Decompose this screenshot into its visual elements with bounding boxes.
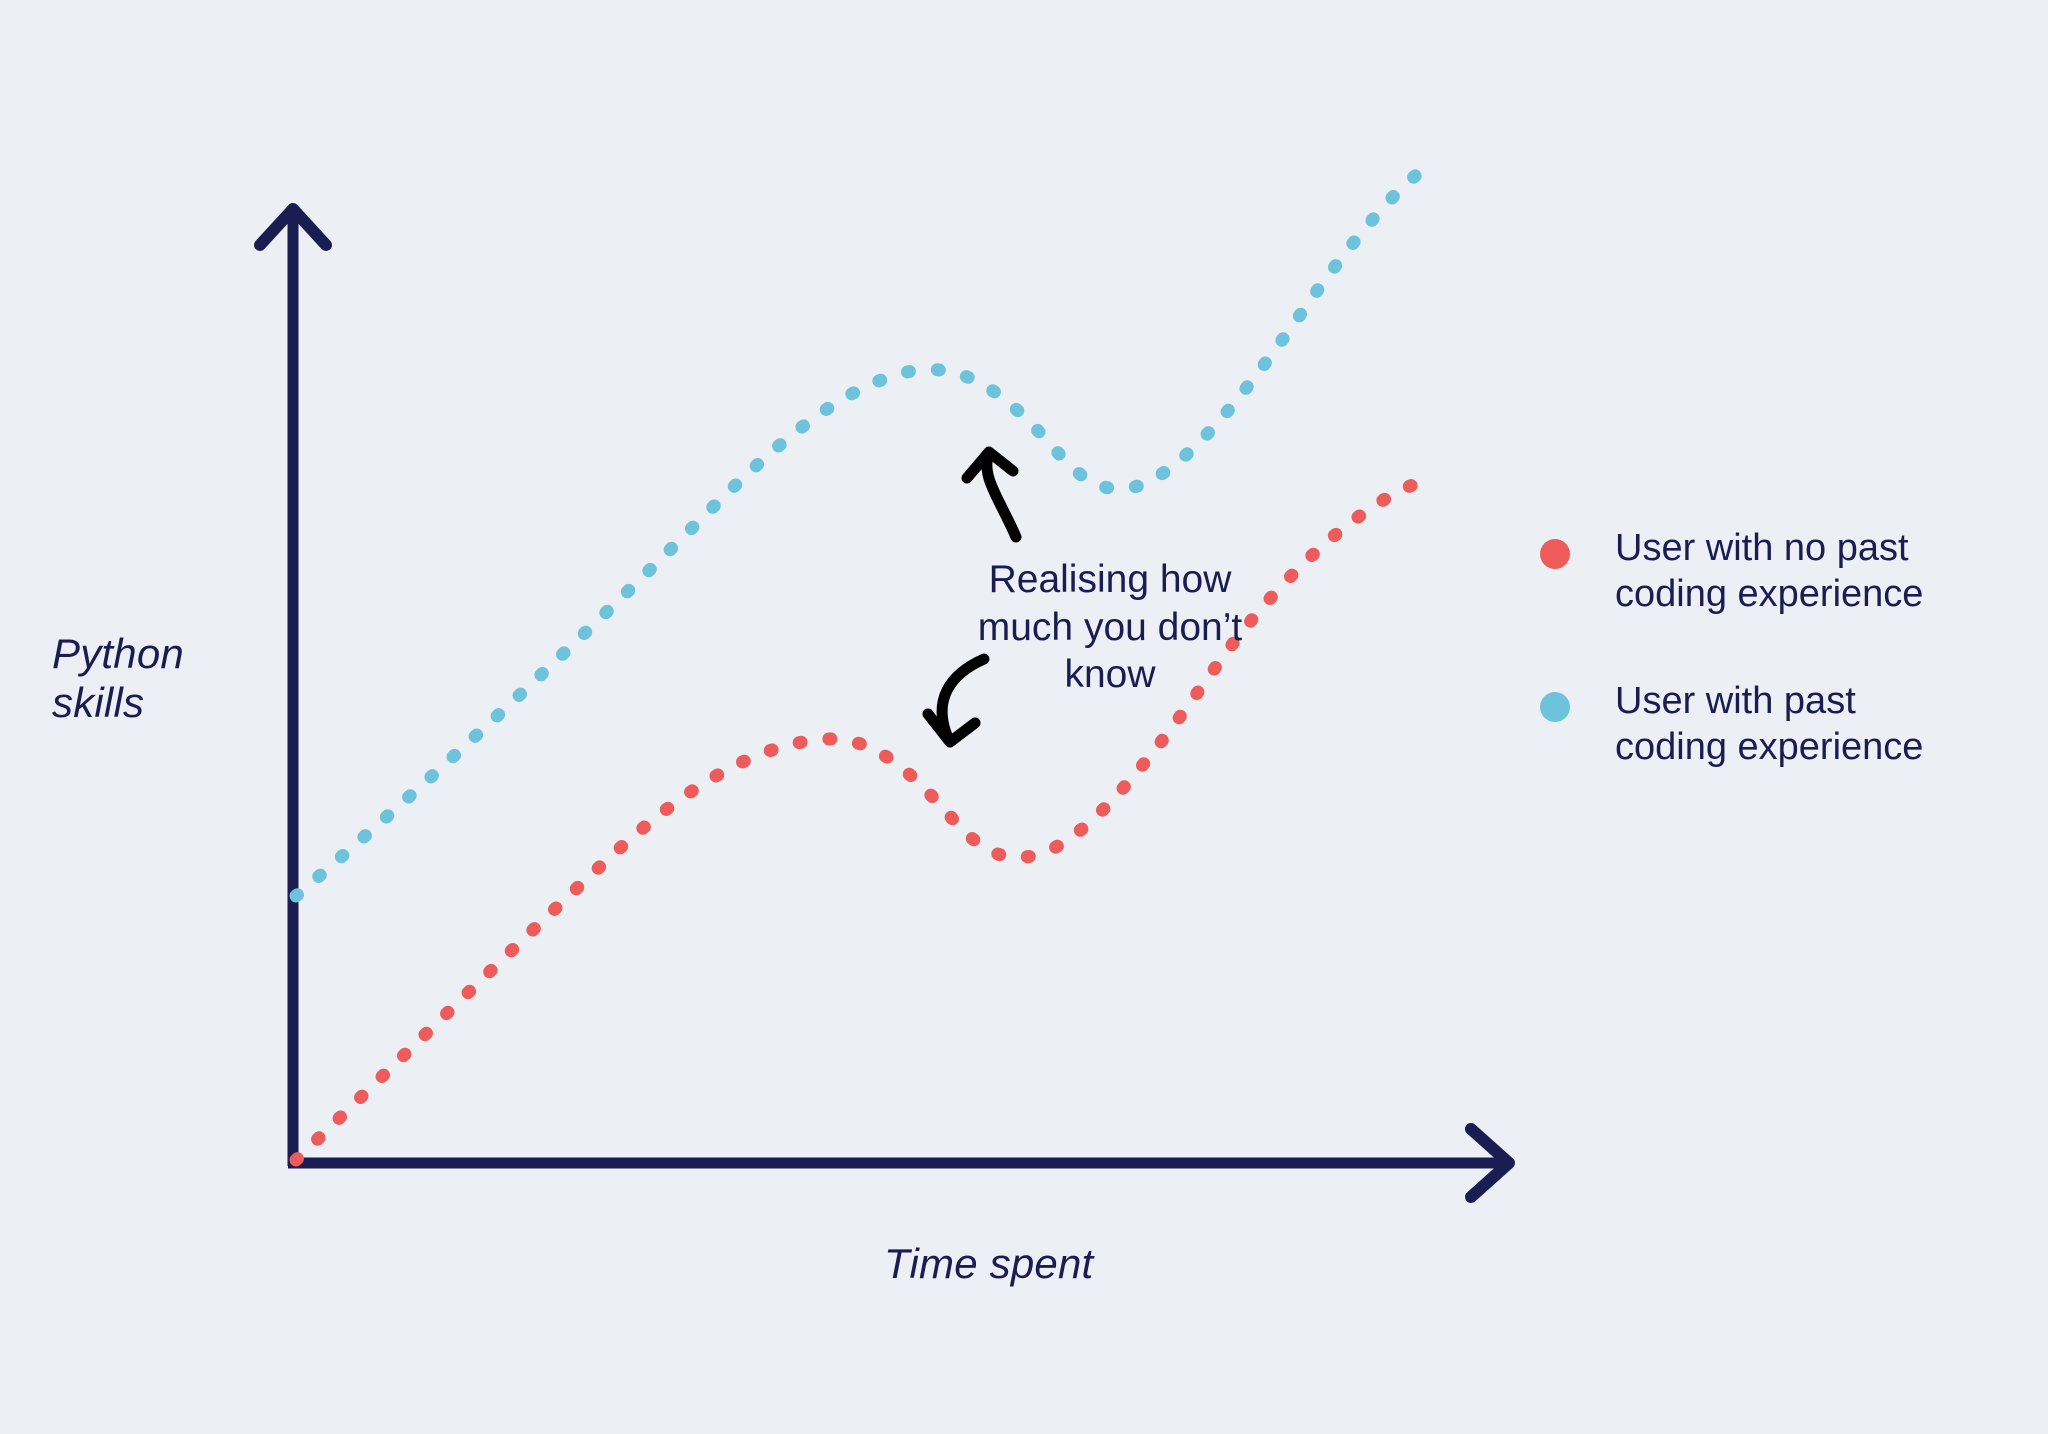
- curved-arrow-up-icon: [967, 452, 1016, 537]
- chart-canvas: Python skills Time spent Realising how m…: [0, 0, 2048, 1434]
- legend-label-no-experience: User with no past coding experience: [1615, 525, 1923, 618]
- chart-annotation-text: Realising how much you don’t know: [960, 556, 1260, 699]
- axes-group: [260, 209, 1509, 1197]
- legend-dot-no-experience: [1540, 539, 1570, 569]
- legend-item-past-experience[interactable]: User with past coding experience: [1540, 678, 2000, 771]
- series-line-past-experience: [296, 172, 1420, 896]
- legend-label-past-experience: User with past coding experience: [1615, 678, 1923, 771]
- legend-dot-past-experience: [1540, 692, 1570, 722]
- x-axis-label: Time spent: [884, 1240, 1093, 1289]
- chart-legend: User with no past coding experience User…: [1540, 525, 2000, 830]
- y-axis-label: Python skills: [52, 630, 184, 727]
- legend-item-no-experience[interactable]: User with no past coding experience: [1540, 525, 2000, 618]
